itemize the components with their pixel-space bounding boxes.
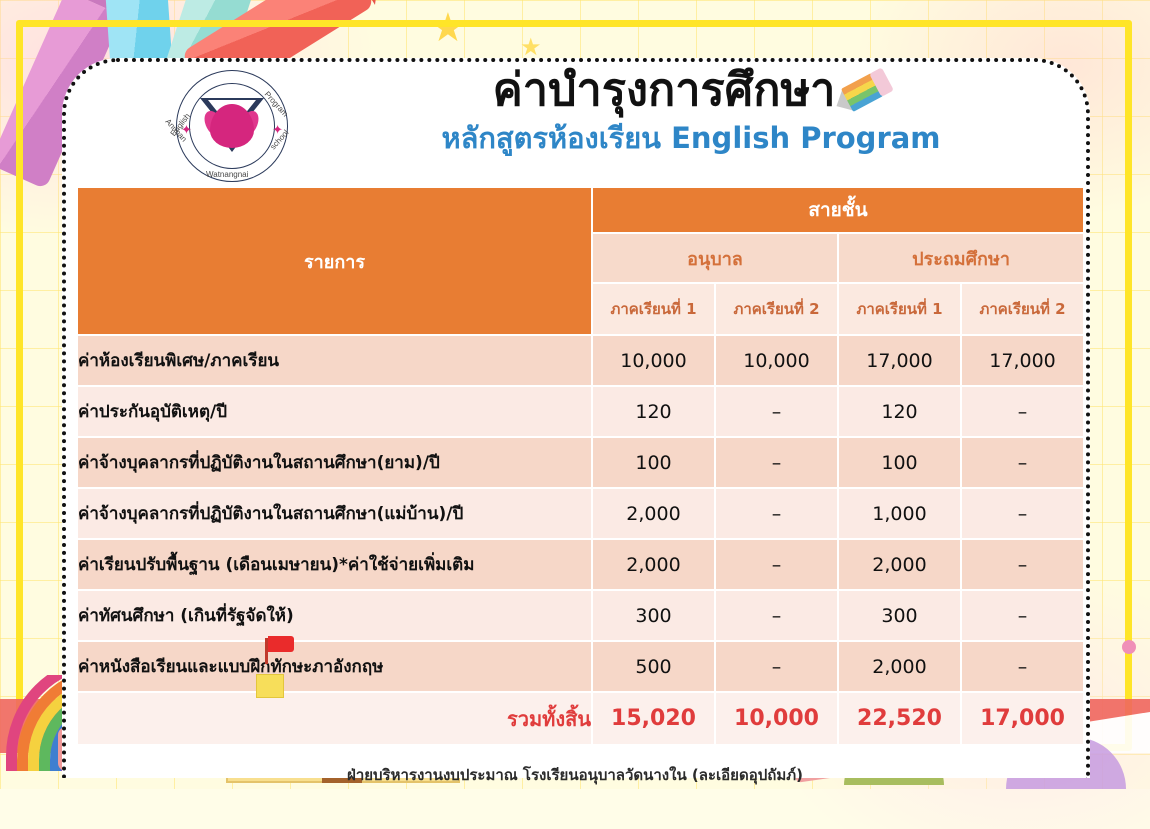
- row-value: 17,000: [838, 335, 961, 386]
- row-value: 300: [838, 590, 961, 641]
- content-card: ✦✦ English Program Anuban Watnangnai sch…: [62, 58, 1090, 778]
- row-value: 10,000: [592, 335, 715, 386]
- header-term-kg-2: ภาคเรียนที่ 2: [715, 283, 838, 335]
- row-value: –: [961, 386, 1084, 437]
- row-value: 500: [592, 641, 715, 692]
- row-value: –: [961, 590, 1084, 641]
- total-value: 15,020: [592, 692, 715, 745]
- total-label: รวมทั้งสิ้น: [77, 692, 592, 745]
- pink-dot-decoration: [1122, 640, 1136, 654]
- header-term-pri-1: ภาคเรียนที่ 1: [838, 283, 961, 335]
- total-value: 10,000: [715, 692, 838, 745]
- header-group-column: สายชั้น: [592, 187, 1084, 233]
- header-term-pri-2: ภาคเรียนที่ 2: [961, 283, 1084, 335]
- row-value: 300: [592, 590, 715, 641]
- row-item-label: ค่าประกันอุบัติเหตุ/ปี: [77, 386, 592, 437]
- logo-text-watnangnai: Watnangnai: [206, 170, 248, 179]
- header-item-column: รายการ: [77, 187, 592, 335]
- school-logo-icon: ✦✦ English Program Anuban Watnangnai sch…: [176, 70, 288, 182]
- page-title-text: ค่าบำรุงการศึกษา: [493, 66, 836, 113]
- total-value: 22,520: [838, 692, 961, 745]
- page-title: ค่าบำรุงการศึกษา: [296, 66, 1086, 113]
- row-value: –: [715, 437, 838, 488]
- header-level-primary: ประถมศึกษา: [838, 233, 1084, 283]
- row-item-label: ค่าหนังสือเรียนและแบบฝึกทักษะภาอังกฤษ: [77, 641, 592, 692]
- row-value: 2,000: [592, 539, 715, 590]
- row-value: –: [715, 539, 838, 590]
- row-value: 2,000: [838, 641, 961, 692]
- table-row: ค่าทัศนศึกษา (เกินที่รัฐจัดให้) 300 – 30…: [77, 590, 1084, 641]
- row-value: –: [715, 590, 838, 641]
- row-item-label: ค่าจ้างบุคลากรที่ปฏิบัติงานในสถานศึกษา(แ…: [77, 488, 592, 539]
- card-header: ✦✦ English Program Anuban Watnangnai sch…: [66, 62, 1086, 186]
- row-item-label: ค่าห้องเรียนพิเศษ/ภาคเรียน: [77, 335, 592, 386]
- pencil-emoji-icon: [832, 65, 894, 119]
- row-item-text: ค่าหนังสือเรียนและแบบฝึกทักษะภาอังกฤษ: [78, 657, 383, 677]
- row-value: –: [961, 488, 1084, 539]
- table-row: ค่าประกันอุบัติเหตุ/ปี 120 – 120 –: [77, 386, 1084, 437]
- table-header-row-1: รายการ สายชั้น: [77, 187, 1084, 233]
- total-value: 17,000: [961, 692, 1084, 745]
- row-value: 17,000: [961, 335, 1084, 386]
- header-level-kindergarten: อนุบาล: [592, 233, 838, 283]
- page-footer: ฝ่ายบริหารงานงบประมาณ โรงเรียนอนุบาลวัดน…: [0, 763, 1150, 787]
- row-value: 120: [838, 386, 961, 437]
- page-subtitle: หลักสูตรห้องเรียน English Program: [296, 115, 1086, 161]
- row-value: –: [961, 641, 1084, 692]
- logo-text-school: school: [268, 128, 290, 151]
- row-value: –: [715, 488, 838, 539]
- row-value: –: [961, 539, 1084, 590]
- row-value: –: [715, 386, 838, 437]
- row-value: 100: [592, 437, 715, 488]
- table-row: ค่าจ้างบุคลากรที่ปฏิบัติงานในสถานศึกษา(ย…: [77, 437, 1084, 488]
- table-row: ค่าห้องเรียนพิเศษ/ภาคเรียน 10,000 10,000…: [77, 335, 1084, 386]
- row-value: 1,000: [838, 488, 961, 539]
- sticky-note-icon: [256, 674, 284, 698]
- row-value: 10,000: [715, 335, 838, 386]
- table-total-row: รวมทั้งสิ้น 15,020 10,000 22,520 17,000: [77, 692, 1084, 745]
- row-item-label: ค่าจ้างบุคลากรที่ปฏิบัติงานในสถานศึกษา(ย…: [77, 437, 592, 488]
- header-term-kg-1: ภาคเรียนที่ 1: [592, 283, 715, 335]
- row-value: 2,000: [838, 539, 961, 590]
- table-row: ค่าจ้างบุคลากรที่ปฏิบัติงานในสถานศึกษา(แ…: [77, 488, 1084, 539]
- fee-table: รายการ สายชั้น อนุบาล ประถมศึกษา ภาคเรีย…: [76, 186, 1085, 746]
- row-value: 2,000: [592, 488, 715, 539]
- table-row: ค่าเรียนปรับพื้นฐาน (เดือนเมษายน)*ค่าใช้…: [77, 539, 1084, 590]
- row-value: 120: [592, 386, 715, 437]
- row-value: –: [715, 641, 838, 692]
- row-item-label: ค่าเรียนปรับพื้นฐาน (เดือนเมษายน)*ค่าใช้…: [77, 539, 592, 590]
- table-row: ค่าหนังสือเรียนและแบบฝึกทักษะภาอังกฤษ 50…: [77, 641, 1084, 692]
- row-value: –: [961, 437, 1084, 488]
- logo-text-program: Program: [263, 90, 290, 119]
- row-value: 100: [838, 437, 961, 488]
- red-flag-icon: [268, 636, 294, 652]
- row-item-label: ค่าทัศนศึกษา (เกินที่รัฐจัดให้): [77, 590, 592, 641]
